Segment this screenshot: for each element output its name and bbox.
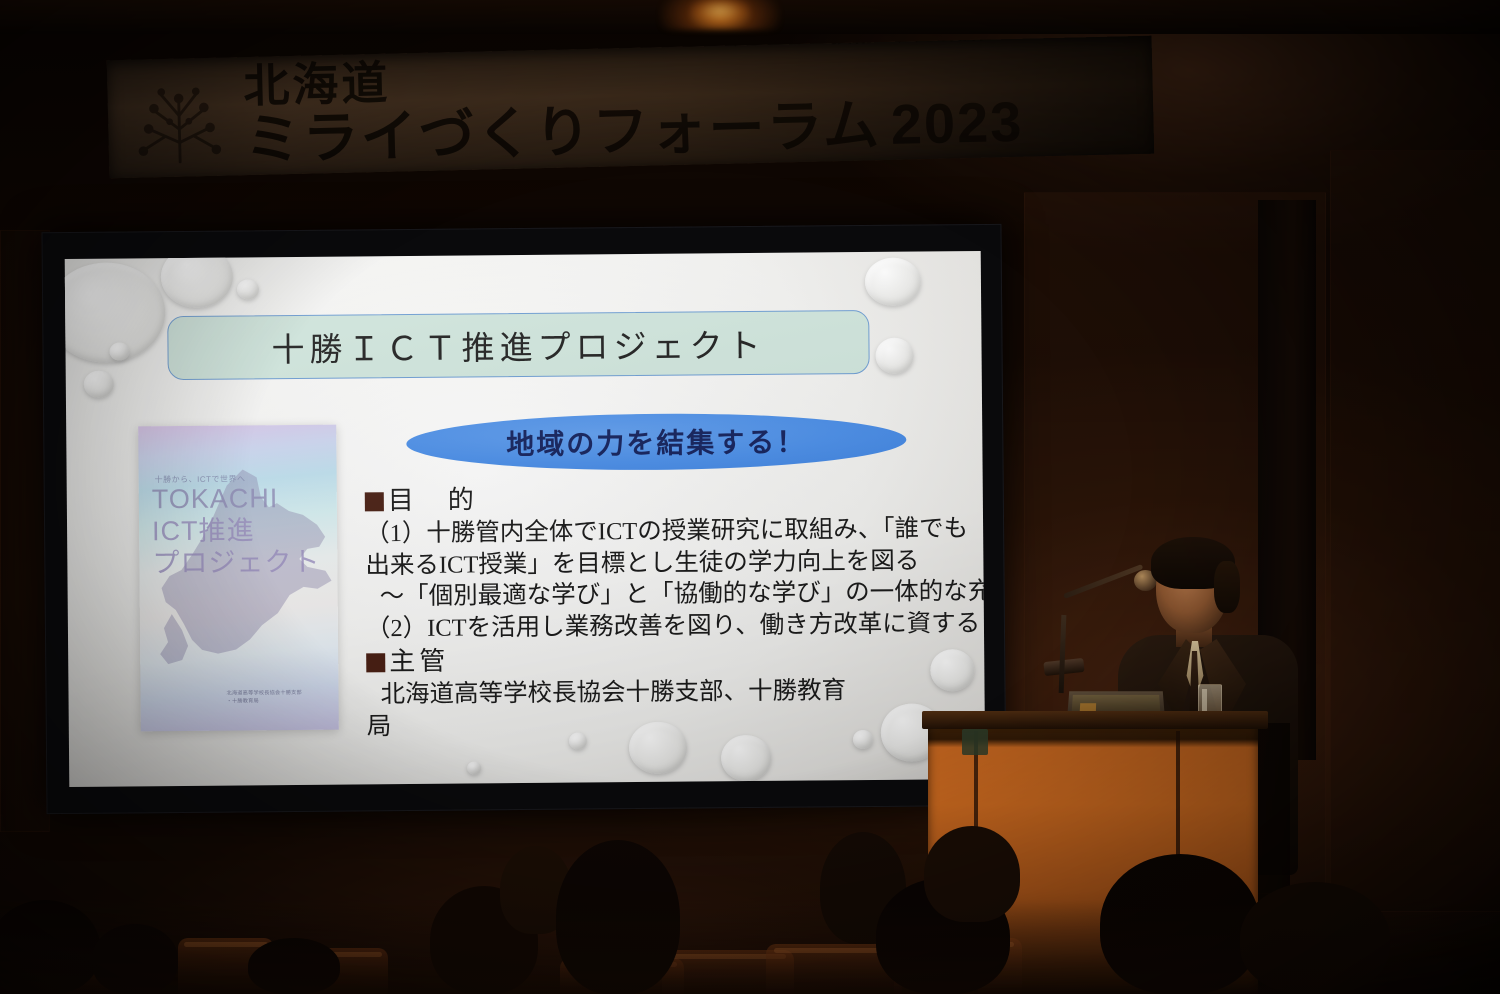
ceiling-light-core (690, 0, 750, 26)
brochure-title-line3: プロジェクト (152, 546, 320, 579)
slide-body-line: 出来るICT授業」を目標とし生徒の学力向上を図る (365, 545, 975, 582)
conference-hall-photo: ほっかいどうのミライをつくるための技術と人を集結！ 北海道 ミライづくりフォーラ… (0, 0, 1500, 994)
banner-line2: ミライづくりフォーラム (244, 96, 882, 170)
banner-year: 2023 (890, 92, 1024, 154)
bubble-decor (875, 338, 913, 374)
brochure-cover-image: 十勝から、ICTで世界へ TOKACHI ICT推進 プロジェクト 北海道高等学… (138, 425, 339, 732)
slide-body-line: （1）十勝管内全体でICTの授業研究に取組み、「誰でも (365, 513, 975, 550)
bubble-decor (467, 761, 481, 774)
slide-body-line: （2）ICTを活用し業務改善を図り、働き方改革に資する (366, 608, 976, 645)
bubble-decor (109, 342, 129, 360)
slide-title-box: 十勝ＩＣＴ推進プロジェクト (167, 310, 870, 380)
brochure-title-line1: TOKACHI (152, 483, 320, 516)
bubble-decor (84, 371, 114, 398)
brochure-footer: 北海道高等学校長協会十勝支部 ・十勝教育局 (226, 690, 302, 706)
bubble-decor (721, 735, 771, 781)
bubble-decor (865, 258, 921, 306)
podium-plate (962, 729, 988, 755)
wall-panel-far-right (1330, 150, 1500, 912)
brochure-title-line2: ICT推進 (152, 515, 320, 548)
floor-gradient (0, 900, 1500, 994)
slide-body-text: 目 的 （1）十勝管内全体でICTの授業研究に取組み、「誰でも 出来るICT授業… (365, 479, 977, 743)
projected-slide: 十勝ＩＣＴ推進プロジェクト 地域の力を結集する！ 十勝から、ICTで世界へ TO… (65, 251, 986, 787)
presenter-hair-side (1214, 561, 1240, 613)
brochure-footer-line1: 北海道高等学校長協会十勝支部 (226, 690, 302, 698)
slide-body-line: 局 (367, 706, 977, 743)
square-bullet-icon (365, 492, 384, 511)
slide-heading-management: 主管 (389, 647, 449, 677)
slide-section-heading: 主管 (366, 640, 976, 679)
bubble-decor (237, 279, 259, 299)
slide-oval-text: 地域の力を結集する！ (506, 421, 806, 464)
slide-body-line: ～「個別最適な学び」と「協働的な学び」の一体的な充実 (366, 577, 976, 614)
projection-screen-frame: 十勝ＩＣＴ推進プロジェクト 地域の力を結集する！ 十勝から、ICTで世界へ TO… (41, 224, 1006, 814)
slide-body-line: 北海道高等学校長協会十勝支部、十勝教育 (366, 674, 976, 711)
brochure-title: TOKACHI ICT推進 プロジェクト (152, 483, 321, 580)
square-bullet-icon (366, 653, 385, 672)
slide-highlight-oval: 地域の力を結集する！ (406, 412, 906, 472)
banner-line1: 北海道 (243, 44, 1023, 108)
forum-banner: ほっかいどうのミライをつくるための技術と人を集結！ 北海道 ミライづくりフォーラ… (107, 36, 1154, 179)
podium-top-surface (922, 711, 1268, 729)
banner-tagline: ほっかいどうのミライをつくるための技術と人を集結！ (457, 36, 1007, 58)
slide-heading-purpose: 目 的 (388, 485, 478, 515)
brochure-footer-line2: ・十勝教育局 (227, 698, 303, 706)
slide-title-text: 十勝ＩＣＴ推進プロジェクト (271, 319, 765, 371)
bubble-decor (161, 251, 234, 308)
slide-section-heading: 目 的 (365, 479, 975, 518)
circuit-tree-logo (119, 68, 239, 167)
